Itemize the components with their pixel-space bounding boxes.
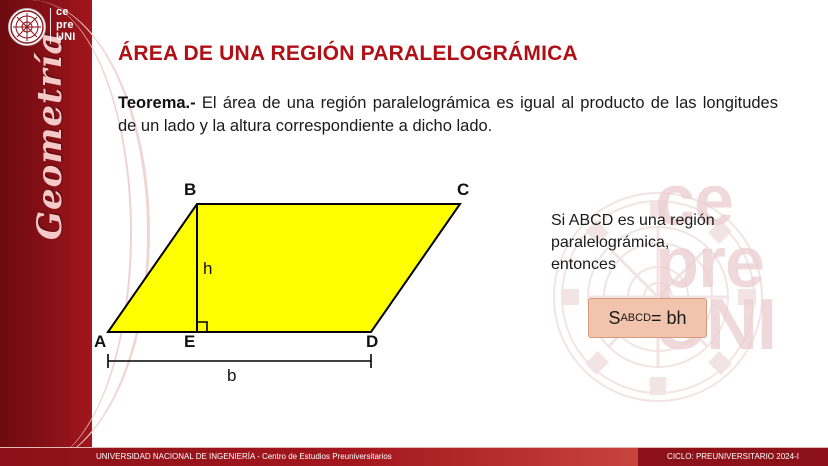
- formula-symbol: S: [608, 308, 620, 329]
- parallelogram-shape: [108, 204, 460, 332]
- right-note-line-1: Si ABCD es una región: [551, 210, 791, 232]
- height-label-h: h: [203, 259, 212, 279]
- formula-expression: = bh: [651, 308, 687, 329]
- footer: UNIVERSIDAD NACIONAL DE INGENIERÍA - Cen…: [0, 448, 828, 466]
- vertex-label-E: E: [184, 332, 195, 352]
- right-note-line-2: paralelográmica,: [551, 232, 791, 254]
- formula-box: SABCD = bh: [588, 298, 707, 338]
- slide-root: ce pre UNI: [0, 0, 828, 466]
- vertex-label-B: B: [184, 180, 196, 200]
- logo-wordmark: ce pre UNI: [56, 6, 76, 44]
- parallelogram-figure: B C A D E h b: [80, 180, 540, 400]
- page-title: ÁREA DE UNA REGIÓN PARALELOGRÁMICA: [118, 42, 578, 66]
- svg-text:1876: 1876: [647, 377, 670, 389]
- theorem-paragraph: Teorema.- El área de una región paralelo…: [118, 92, 778, 138]
- vertex-label-A: A: [94, 332, 106, 352]
- vertex-label-D: D: [366, 332, 378, 352]
- footer-left-text: UNIVERSIDAD NACIONAL DE INGENIERÍA - Cen…: [0, 448, 640, 466]
- right-note: Si ABCD es una región paralelográmica, e…: [551, 210, 791, 276]
- parallelogram-svg: [80, 180, 540, 400]
- theorem-label: Teorema.-: [118, 94, 196, 112]
- footer-right-text: CICLO: PREUNIVERSITARIO 2024-I: [638, 448, 828, 466]
- theorem-text: El área de una región paralelográmica es…: [118, 94, 778, 135]
- uni-seal-icon: [8, 8, 46, 46]
- brand-logo: ce pre UNI: [4, 4, 90, 48]
- logo-divider: [50, 8, 51, 44]
- vertex-label-C: C: [457, 180, 469, 200]
- base-label-b: b: [227, 366, 236, 386]
- formula-subscript: ABCD: [620, 312, 651, 324]
- vertical-subject-title: Geometría: [30, 80, 70, 240]
- right-note-line-3: entonces: [551, 254, 791, 276]
